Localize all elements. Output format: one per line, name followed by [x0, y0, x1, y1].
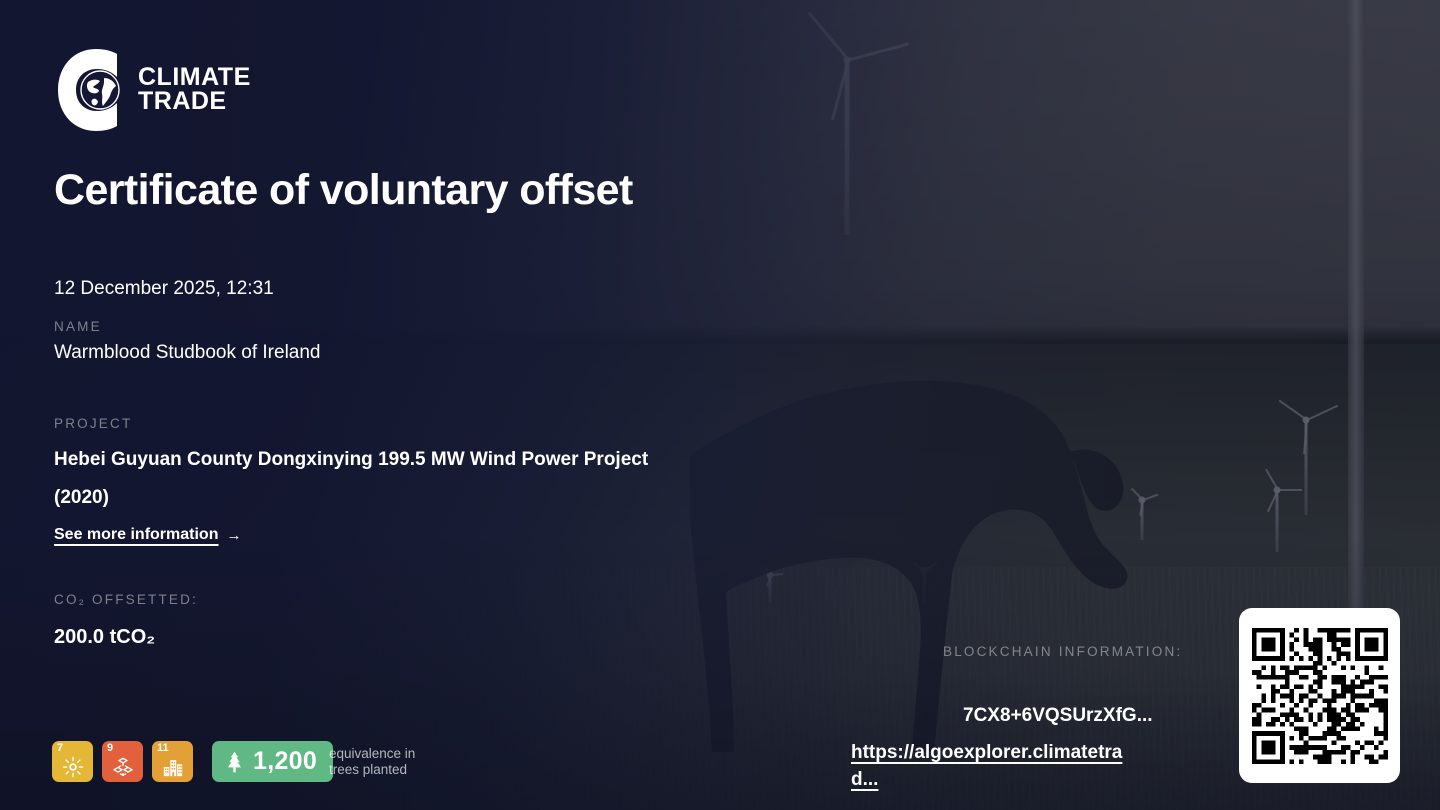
- tree-icon: [225, 751, 244, 773]
- sdg-goals-row: 7 9: [52, 741, 333, 782]
- sdg-number: 7: [57, 743, 63, 754]
- blockchain-explorer-link[interactable]: https://algoexplorer.climatetrad...: [851, 739, 1141, 793]
- cubes-icon: [102, 754, 143, 778]
- project-value: Hebei Guyuan County Dongxinying 199.5 MW…: [54, 441, 694, 517]
- see-more-information-label: See more information: [54, 526, 218, 544]
- see-more-information-link[interactable]: See more information →: [54, 526, 241, 544]
- sdg-badge-7[interactable]: 7: [52, 741, 93, 782]
- brand-wordmark: CLIMATE TRADE: [138, 66, 251, 114]
- sun-icon: [52, 754, 93, 778]
- certificate-page: CLIMATE TRADE Certificate of voluntary o…: [0, 0, 1440, 810]
- page-title: Certificate of voluntary offset: [54, 166, 633, 215]
- sdg-number: 9: [107, 743, 113, 754]
- co2-offsetted-label: CO₂ OFFSETTED:: [54, 592, 198, 607]
- brand-name-line2: TRADE: [138, 90, 251, 114]
- trees-caption-line2: trees planted: [329, 762, 449, 778]
- certificate-content: CLIMATE TRADE Certificate of voluntary o…: [0, 0, 1440, 810]
- blockchain-hash: 7CX8+6VQSUrzXfG...: [963, 705, 1153, 727]
- buildings-icon: [152, 754, 193, 778]
- trees-planted-count: 1,200: [253, 747, 317, 776]
- arrow-right-icon: →: [226, 527, 241, 544]
- name-label: NAME: [54, 319, 102, 334]
- name-value: Warmblood Studbook of Ireland: [54, 342, 321, 364]
- trees-caption-line1: equivalence in: [329, 746, 449, 762]
- co2-offsetted-value: 200.0 tCO₂: [54, 626, 155, 649]
- qr-code-icon: [1252, 628, 1388, 764]
- sdg-badge-11[interactable]: 11: [152, 741, 193, 782]
- sdg-number: 11: [157, 743, 169, 754]
- sdg-badge-9[interactable]: 9: [102, 741, 143, 782]
- brand-logo: CLIMATE TRADE: [54, 46, 251, 134]
- climate-trade-globe-icon: [54, 46, 128, 134]
- qr-code[interactable]: [1239, 608, 1400, 783]
- trees-planted-badge: 1,200: [212, 741, 333, 782]
- trees-planted-caption: equivalence in trees planted: [329, 746, 449, 778]
- issue-date: 12 December 2025, 12:31: [54, 278, 274, 300]
- project-label: PROJECT: [54, 416, 132, 431]
- blockchain-information-label: BLOCKCHAIN INFORMATION:: [943, 644, 1182, 659]
